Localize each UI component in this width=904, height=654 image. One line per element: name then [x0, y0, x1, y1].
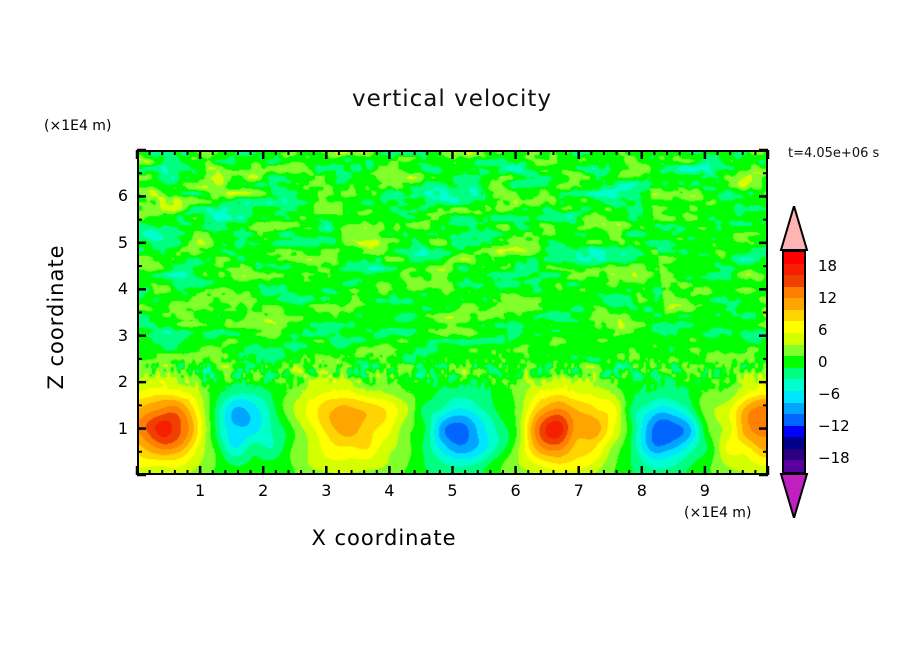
colorbar: 181260−6−12−18	[778, 206, 812, 518]
colorbar-band	[784, 287, 804, 299]
y-axis-units: (×1E4 m)	[44, 118, 111, 134]
colorbar-band	[784, 275, 804, 287]
colorbar-band	[784, 333, 804, 345]
colorbar-band	[784, 414, 804, 426]
colorbar-tick-label: −6	[818, 385, 840, 403]
colorbar-band	[784, 252, 804, 264]
y-tick-label: 4	[104, 279, 128, 298]
contour-plot-area	[137, 150, 768, 475]
colorbar-band	[784, 368, 804, 380]
x-tick-label: 4	[376, 481, 402, 500]
colorbar-band	[784, 298, 804, 310]
colorbar-band	[784, 391, 804, 403]
x-tick-label: 5	[440, 481, 466, 500]
y-tick-label: 1	[104, 419, 128, 438]
colorbar-tick-label: 0	[818, 353, 828, 371]
x-tick-label: 9	[692, 481, 718, 500]
colorbar-tick-label: 6	[818, 321, 828, 339]
colorbar-band	[784, 426, 804, 438]
x-tick-label: 3	[313, 481, 339, 500]
colorbar-band	[784, 379, 804, 391]
x-axis-units: (×1E4 m)	[684, 505, 751, 521]
chart-title: vertical velocity	[0, 86, 904, 112]
colorbar-band	[784, 345, 804, 357]
y-tick-label: 5	[104, 233, 128, 252]
x-tick-label: 2	[250, 481, 276, 500]
velocity-field-canvas	[139, 152, 766, 473]
colorbar-band	[784, 403, 804, 415]
colorbar-band	[784, 356, 804, 368]
colorbar-band	[784, 264, 804, 276]
y-tick-label: 3	[104, 326, 128, 345]
colorbar-band	[784, 460, 804, 472]
timestamp-label: t=4.05e+06 s	[788, 146, 879, 161]
y-axis-title: Z coordinate	[44, 227, 68, 407]
colorbar-bands	[782, 250, 806, 474]
colorbar-band	[784, 437, 804, 449]
x-tick-label: 6	[503, 481, 529, 500]
colorbar-band	[784, 449, 804, 461]
x-axis-title: X coordinate	[0, 526, 768, 550]
colorbar-band	[784, 310, 804, 322]
x-tick-label: 7	[566, 481, 592, 500]
x-tick-label: 1	[187, 481, 213, 500]
colorbar-tick-label: 12	[818, 289, 837, 307]
colorbar-tick-label: 18	[818, 257, 837, 275]
y-tick-label: 2	[104, 372, 128, 391]
colorbar-band	[784, 321, 804, 333]
y-tick-label: 6	[104, 186, 128, 205]
colorbar-tick-label: −18	[818, 449, 850, 467]
x-tick-label: 8	[629, 481, 655, 500]
colorbar-tick-label: −12	[818, 417, 850, 435]
